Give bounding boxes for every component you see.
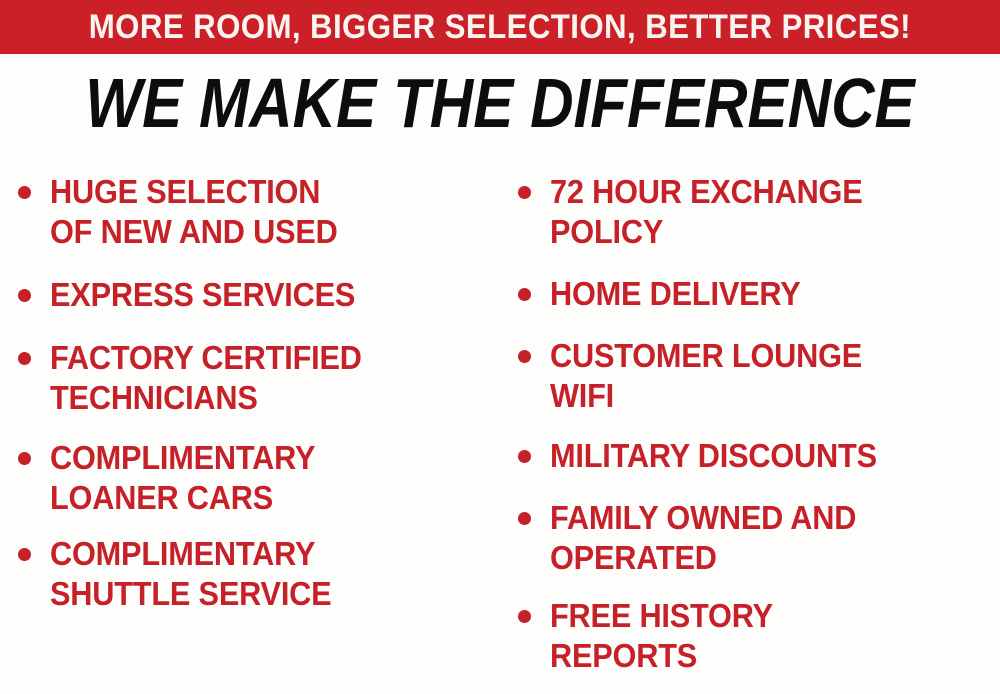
list-item-label: 72 HOUR EXCHANGE POLICY (550, 172, 863, 252)
list-item: 72 HOUR EXCHANGE POLICY (518, 172, 886, 252)
bullet-dot-icon (18, 352, 31, 365)
list-item: COMPLIMENTARY SHUTTLE SERVICE (18, 534, 353, 614)
bullet-dot-icon (518, 288, 531, 301)
bullet-dot-icon (18, 548, 31, 561)
bullet-dot-icon (518, 610, 531, 623)
list-item: FREE HISTORY REPORTS (518, 596, 790, 676)
list-item: CUSTOMER LOUNGE WIFI (518, 336, 886, 416)
list-item: EXPRESS SERVICES (18, 275, 378, 315)
bullet-dot-icon (518, 450, 531, 463)
list-item: COMPLIMENTARY LOANER CARS (18, 438, 335, 518)
list-item: MILITARY DISCOUNTS (518, 436, 901, 476)
list-item-label: HOME DELIVERY (550, 274, 801, 314)
bullet-dot-icon (18, 289, 31, 302)
list-item-label: EXPRESS SERVICES (50, 275, 355, 315)
list-item-label: MILITARY DISCOUNTS (550, 436, 877, 476)
list-item: HUGE SELECTION OF NEW AND USED (18, 172, 359, 252)
list-item-label: HUGE SELECTION OF NEW AND USED (50, 172, 338, 252)
list-item: HOME DELIVERY (518, 274, 819, 314)
list-item-label: COMPLIMENTARY SHUTTLE SERVICE (50, 534, 331, 614)
bullet-dot-icon (18, 186, 31, 199)
bullet-dot-icon (518, 512, 531, 525)
list-item-label: FREE HISTORY REPORTS (550, 596, 773, 676)
bullet-dot-icon (18, 452, 31, 465)
top-banner: MORE ROOM, BIGGER SELECTION, BETTER PRIC… (0, 0, 1000, 54)
list-item: FAMILY OWNED AND OPERATED (518, 498, 879, 578)
list-item-label: COMPLIMENTARY LOANER CARS (50, 438, 315, 518)
list-item-label: CUSTOMER LOUNGE WIFI (550, 336, 862, 416)
page-title: WE MAKE THE DIFFERENCE (70, 68, 930, 138)
promotional-poster: MORE ROOM, BIGGER SELECTION, BETTER PRIC… (0, 0, 1000, 694)
banner-headline-text: MORE ROOM, BIGGER SELECTION, BETTER PRIC… (89, 10, 911, 44)
list-item: FACTORY CERTIFIED TECHNICIANS (18, 338, 385, 418)
list-item-label: FACTORY CERTIFIED TECHNICIANS (50, 338, 362, 418)
bullet-dot-icon (518, 186, 531, 199)
bullet-dot-icon (518, 350, 531, 363)
list-item-label: FAMILY OWNED AND OPERATED (550, 498, 856, 578)
